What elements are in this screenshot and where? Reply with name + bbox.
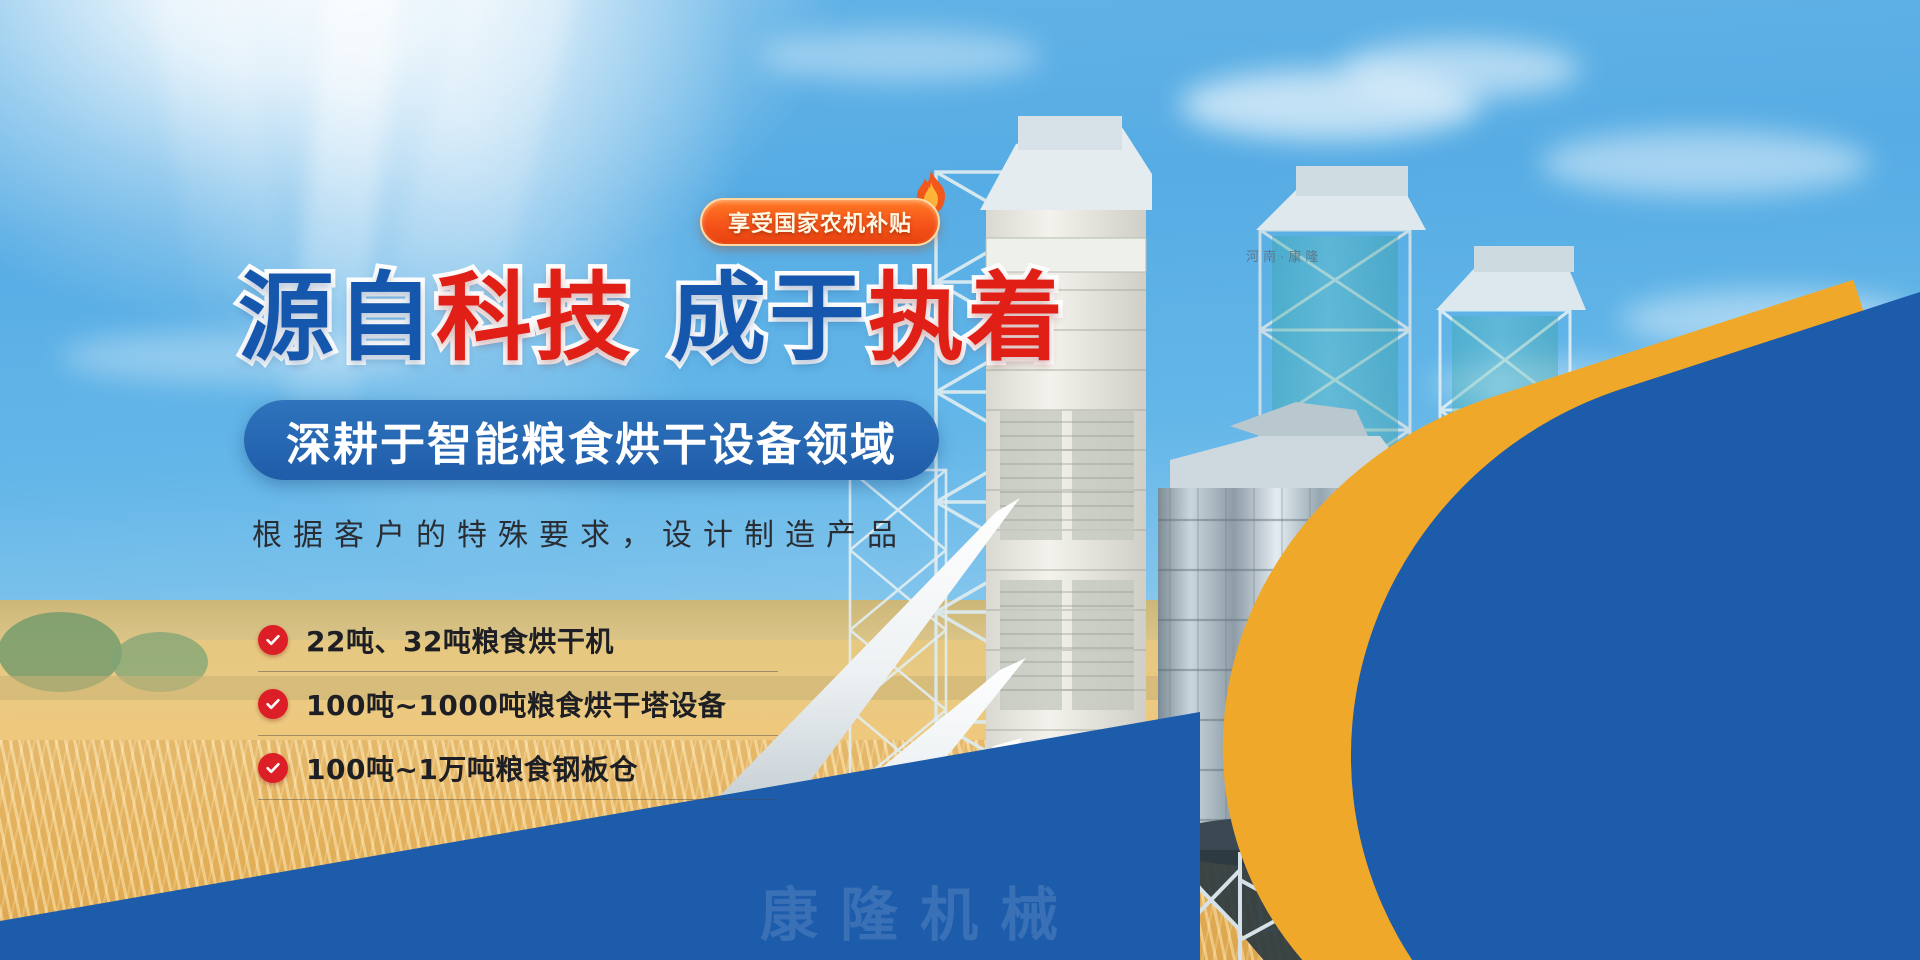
subtitle-pill: 深耕于智能粮食烘干设备领域 [244, 400, 939, 480]
check-circle-icon [258, 689, 288, 719]
feature-list: 22吨、32吨粮食烘干机 100吨~1000吨粮食烘干塔设备 100吨~1万吨粮… [258, 608, 778, 800]
banner-content: 享受国家农机补贴 源自科技成于执着 深耕于智能粮食烘干设备领域 根据客户的特殊要… [0, 0, 1920, 960]
list-item: 22吨、32吨粮食烘干机 [258, 608, 778, 672]
list-item-label: 100吨~1000吨粮食烘干塔设备 [306, 684, 726, 724]
headline-part-3: 成于 [670, 270, 868, 366]
list-item-label: 100吨~1万吨粮食钢板仓 [306, 748, 638, 788]
headline-part-1: 源自 [238, 270, 436, 366]
subsidy-badge[interactable]: 享受国家农机补贴 [700, 198, 940, 246]
tagline: 根据客户的特殊要求，设计制造产品 [252, 510, 908, 554]
list-item: 100吨~1000吨粮食烘干塔设备 [258, 672, 778, 736]
list-item: 100吨~1万吨粮食钢板仓 [258, 736, 778, 800]
headline-part-4: 执着 [868, 270, 1066, 366]
page-title: 源自科技成于执着 [238, 270, 1066, 366]
list-item-label: 22吨、32吨粮食烘干机 [306, 620, 614, 660]
check-circle-icon [258, 753, 288, 783]
check-circle-icon [258, 625, 288, 655]
hero-banner: 河南·康隆 康隆机械 享受国家农机补贴 源自科技成于执着 深耕于智能粮食烘干设备… [0, 0, 1920, 960]
headline-part-2: 科技 [436, 270, 634, 366]
